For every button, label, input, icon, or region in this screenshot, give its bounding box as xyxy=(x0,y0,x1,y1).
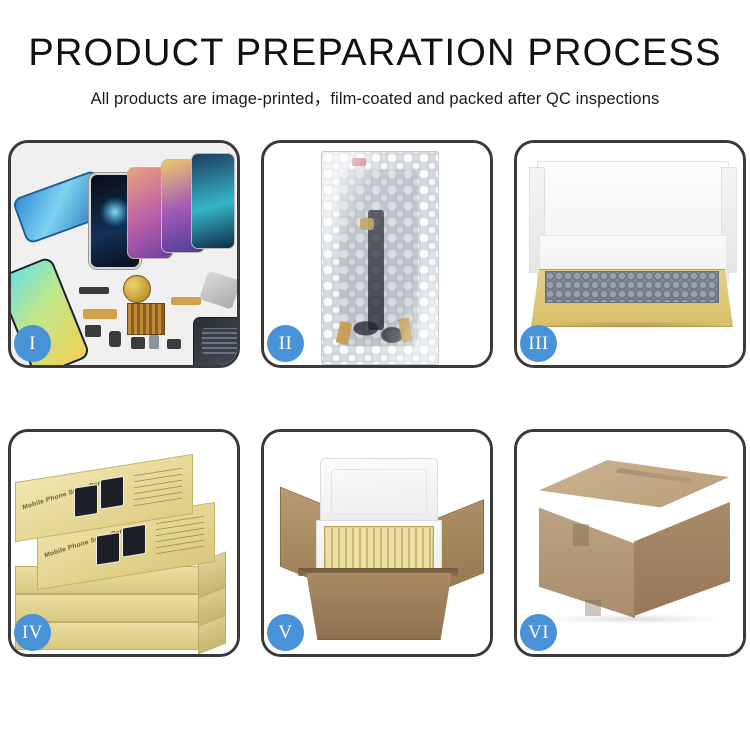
process-step-card-1: I xyxy=(8,140,240,368)
small-part-icon xyxy=(167,339,181,349)
step-badge-3: III xyxy=(520,325,557,362)
box-print-screen-icon xyxy=(74,484,98,518)
bubble-wrap-bag-icon xyxy=(321,151,439,365)
process-step-card-2: II xyxy=(261,140,493,368)
small-part-icon xyxy=(79,287,109,294)
drop-shadow xyxy=(545,614,725,624)
box-stack: Mobile Phone Spare Parts Mobile Phone Sp… xyxy=(15,454,231,644)
box-print-screen-icon xyxy=(96,532,120,566)
process-step-card-4: Mobile Phone Spare Parts Mobile Phone Sp… xyxy=(8,429,240,657)
circuit-chip-icon xyxy=(127,303,165,335)
box-print-screen-icon xyxy=(100,476,124,510)
carton-body-icon xyxy=(298,572,460,640)
header: PRODUCT PREPARATION PROCESS All products… xyxy=(0,0,750,109)
small-part-icon xyxy=(149,335,159,349)
process-step-grid: I II xyxy=(8,140,742,657)
step-badge-2: II xyxy=(267,325,304,362)
gray-bubble-wrap-icon xyxy=(545,271,719,303)
small-part-icon xyxy=(131,337,145,349)
flex-cable-icon xyxy=(171,297,201,305)
product-preparation-infographic: PRODUCT PREPARATION PROCESS All products… xyxy=(0,0,750,750)
step-badge-5: V xyxy=(267,614,304,651)
foam-box-lid-icon xyxy=(320,458,438,526)
step-badge-1: I xyxy=(14,325,51,362)
step-badge-4: IV xyxy=(14,614,51,651)
repair-tool-icon xyxy=(199,270,237,309)
small-part-icon xyxy=(85,325,101,337)
carton-tab-icon xyxy=(573,524,589,546)
packed-kraft-boxes-icon xyxy=(324,526,434,574)
step-badge-6: VI xyxy=(520,614,557,651)
plastic-sheen-overlay xyxy=(322,152,438,364)
process-step-card-5: V xyxy=(261,429,493,657)
box-print-screen-icon xyxy=(122,524,146,558)
phone-backplate-icon xyxy=(193,317,237,365)
page-subtitle: All products are image-printed，film-coat… xyxy=(0,85,750,109)
spare-parts-cluster xyxy=(75,273,237,365)
flex-cable-icon xyxy=(83,309,117,319)
speaker-coil-icon xyxy=(123,275,151,303)
small-part-icon xyxy=(109,331,121,347)
box-print-textlines xyxy=(134,465,182,507)
process-step-card-6: VI xyxy=(514,429,746,657)
phone-screen-teal-icon xyxy=(191,153,235,249)
drop-shadow xyxy=(539,321,725,329)
carton-right-face-icon xyxy=(634,492,730,616)
process-step-card-3: III xyxy=(514,140,746,368)
box-print-textlines xyxy=(156,513,204,555)
page-title: PRODUCT PREPARATION PROCESS xyxy=(0,34,750,72)
